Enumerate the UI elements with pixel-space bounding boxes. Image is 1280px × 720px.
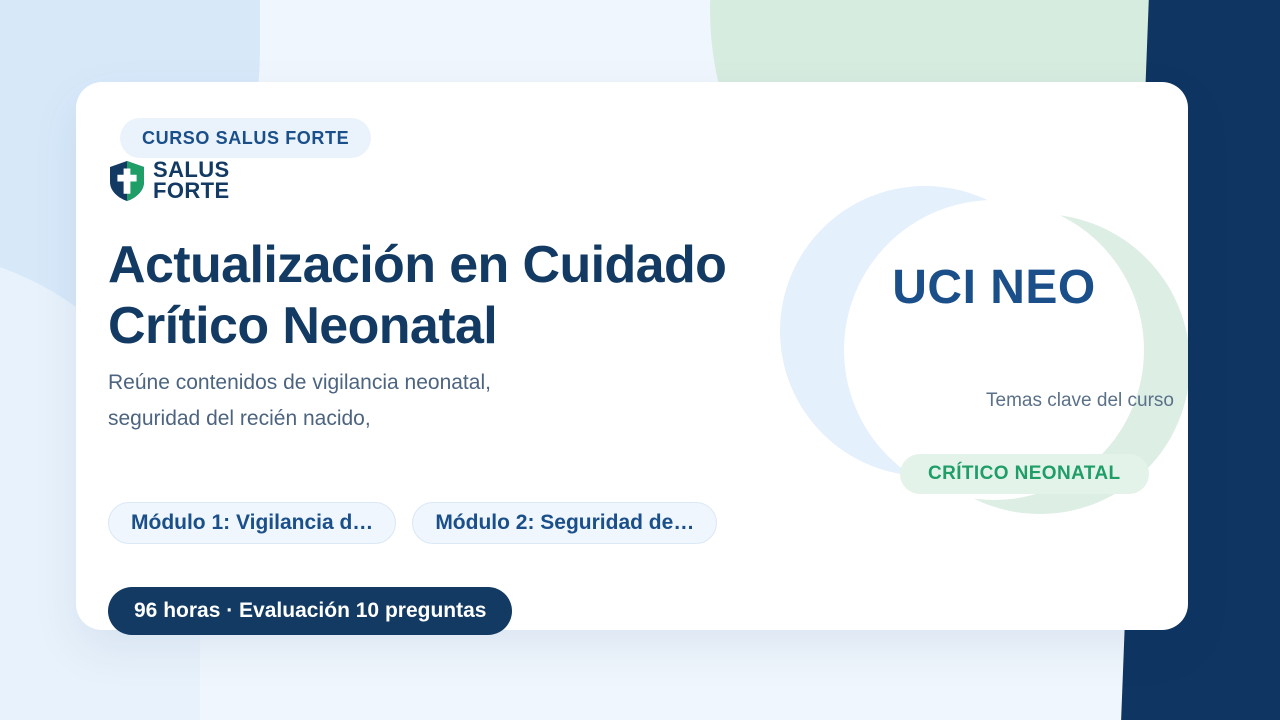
brand-wordmark: SALUS FORTE: [153, 160, 230, 201]
brand-logo: SALUS FORTE: [108, 160, 230, 202]
module-pill-1[interactable]: Módulo 1: Vigilancia d…: [108, 502, 396, 544]
course-hero-banner: CURSO SALUS FORTE SALUS FORTE Actualizac: [0, 0, 1280, 720]
course-meta-badge: 96 horas · Evaluación 10 preguntas: [108, 587, 512, 635]
brand-wordmark-line2: FORTE: [153, 181, 230, 202]
topic-tag-badge: CRÍTICO NEONATAL: [900, 454, 1149, 494]
eyebrow-badge: CURSO SALUS FORTE: [120, 118, 371, 158]
module-pill-2[interactable]: Módulo 2: Seguridad de…: [412, 502, 717, 544]
course-card-inner: CURSO SALUS FORTE SALUS FORTE Actualizac: [76, 82, 1188, 630]
module-list: Módulo 1: Vigilancia d… Módulo 2: Seguri…: [108, 502, 717, 544]
course-meta-label: 96 horas · Evaluación 10 preguntas: [134, 599, 486, 623]
shield-icon: [108, 160, 146, 202]
module-pill-1-label: Módulo 1: Vigilancia d…: [131, 511, 373, 535]
highlight-title: UCI NEO: [844, 260, 1144, 315]
highlight-caption: Temas clave del curso: [814, 390, 1174, 412]
module-pill-2-label: Módulo 2: Seguridad de…: [435, 511, 694, 535]
topic-tag-label: CRÍTICO NEONATAL: [928, 463, 1121, 485]
course-card: CURSO SALUS FORTE SALUS FORTE Actualizac: [76, 82, 1188, 630]
course-title: Actualización en Cuidado Crítico Neonata…: [108, 235, 868, 358]
course-subtitle: Reúne contenidos de vigilancia neonatal,…: [108, 365, 708, 437]
eyebrow-label: CURSO SALUS FORTE: [142, 128, 349, 149]
